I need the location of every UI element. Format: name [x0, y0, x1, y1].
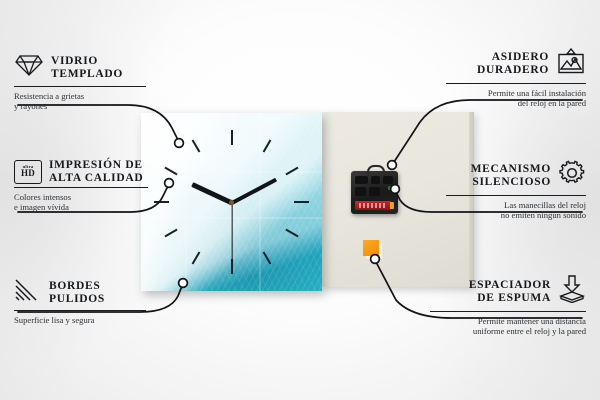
callout-header: ultra HD IMPRESIÓN DE ALTA CALIDAD — [14, 159, 156, 184]
movement-detail-4 — [355, 187, 366, 196]
hour-marker-3 — [294, 201, 309, 203]
callout-rule — [430, 311, 586, 312]
foam-spacer-icon — [558, 275, 586, 308]
wall-clock — [141, 113, 322, 291]
glass-seam-v2 — [259, 113, 261, 291]
infographic-canvas: VIDRIO TEMPLADO Resistencia a grietas y … — [0, 0, 600, 400]
callout-title: BORDES PULIDOS — [49, 280, 105, 305]
second-hand — [231, 202, 232, 260]
gear-icon — [558, 159, 586, 192]
hour-marker-6 — [231, 259, 233, 274]
callout-rule — [14, 310, 146, 311]
battery — [355, 201, 391, 210]
clock-movement — [351, 171, 398, 214]
callout-vidrio-templado: VIDRIO TEMPLADO Resistencia a grietas y … — [14, 52, 154, 111]
callout-title: IMPRESIÓN DE ALTA CALIDAD — [49, 159, 143, 184]
callout-title: ASIDERO DURADERO — [477, 51, 549, 76]
hour-marker-9 — [154, 201, 169, 203]
callout-title: MECANISMO SILENCIOSO — [471, 163, 551, 188]
glass-seam-v1 — [185, 113, 187, 291]
foam-spacer-pad — [363, 240, 379, 256]
callout-mecanismo-silencioso: MECANISMO SILENCIOSO Las manecillas del … — [446, 159, 586, 220]
callout-title: ESPACIADOR DE ESPUMA — [469, 279, 551, 304]
callout-header: VIDRIO TEMPLADO — [14, 52, 154, 83]
polished-edges-icon — [14, 278, 42, 307]
battery-terminal — [390, 202, 394, 209]
callout-asidero-duradero: ASIDERO DURADERO Permite una fácil insta… — [446, 48, 586, 108]
callout-rule — [14, 86, 146, 87]
callout-rule — [446, 195, 586, 196]
callout-impresion-alta-calidad: ultra HD IMPRESIÓN DE ALTA CALIDAD Color… — [14, 159, 156, 213]
callout-espaciador-espuma: ESPACIADOR DE ESPUMA Permite mantener un… — [430, 275, 586, 336]
glass-seam-h1 — [141, 171, 322, 173]
movement-label — [388, 186, 395, 190]
hanging-loop — [367, 165, 385, 176]
callout-rule — [14, 187, 148, 188]
clock-center-hub — [229, 200, 234, 205]
callout-bordes-pulidos: BORDES PULIDOS Superficie lisa y segura — [14, 278, 154, 325]
callout-title: VIDRIO TEMPLADO — [51, 55, 123, 80]
movement-detail-1 — [355, 176, 368, 184]
callout-header: ASIDERO DURADERO — [446, 48, 586, 80]
callout-header: MECANISMO SILENCIOSO — [446, 159, 586, 192]
callout-rule — [446, 83, 586, 84]
movement-detail-3 — [383, 176, 393, 184]
movement-detail-2 — [371, 176, 380, 184]
movement-detail-5 — [369, 187, 380, 196]
ultra-hd-icon: ultra HD — [14, 160, 42, 184]
hour-marker-12 — [231, 130, 233, 145]
callout-header: BORDES PULIDOS — [14, 278, 154, 307]
diamond-icon — [14, 52, 44, 83]
hanging-frame-icon — [556, 48, 586, 80]
callout-header: ESPACIADOR DE ESPUMA — [430, 275, 586, 308]
battery-label — [359, 203, 387, 208]
